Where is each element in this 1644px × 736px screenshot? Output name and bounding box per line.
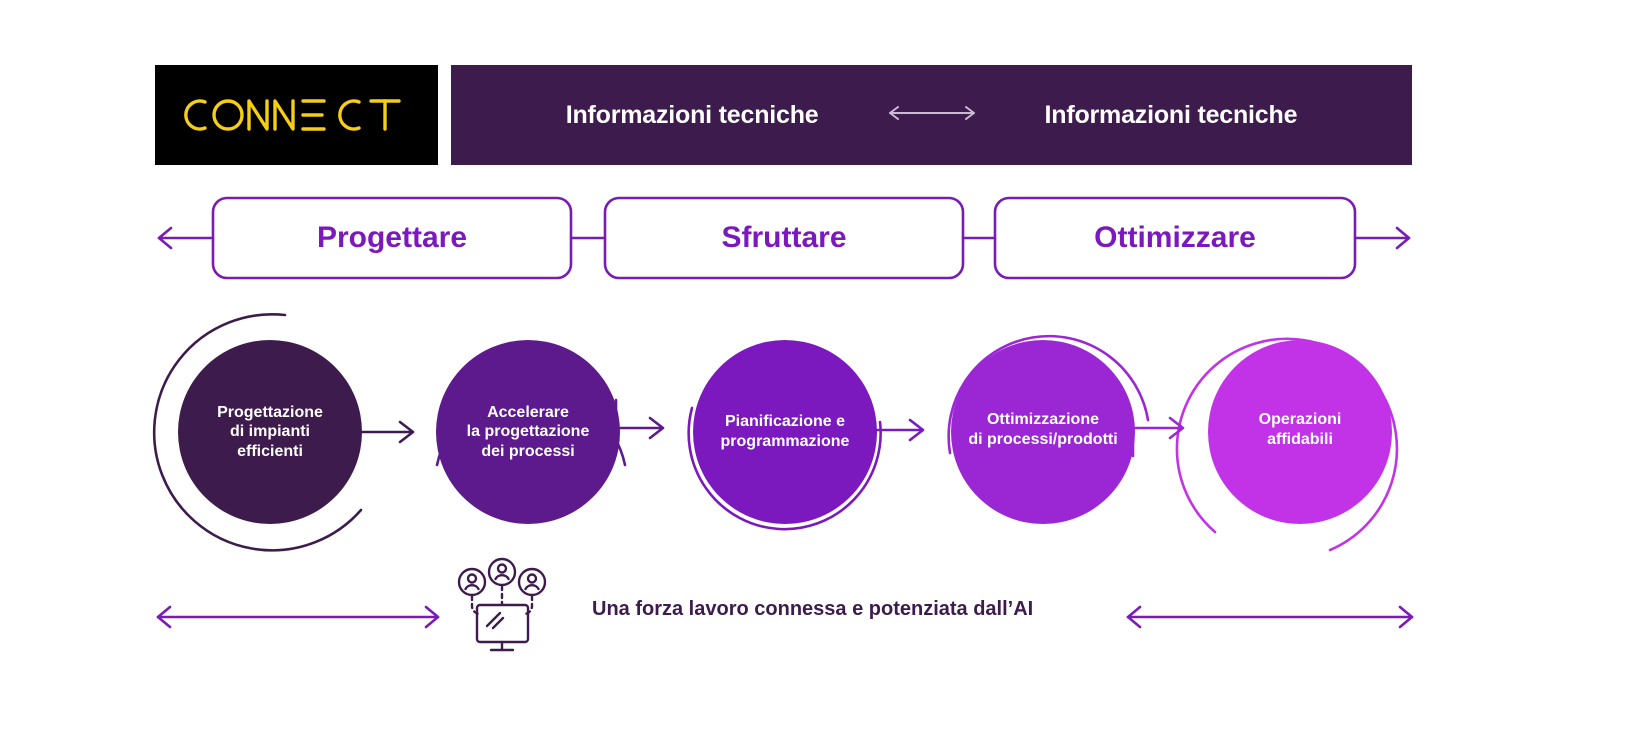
stage-circles-row: Progettazione di impianti efficienti Acc…: [0, 300, 1644, 555]
stage-circle-graphics: [0, 300, 1644, 555]
brand-logo: [155, 65, 438, 165]
phase-box-sfruttare[interactable]: Sfruttare: [605, 192, 963, 284]
header-right-label: Informazioni tecniche: [1045, 101, 1298, 130]
header-left-label: Informazioni tecniche: [566, 101, 819, 130]
header-info-bar: Informazioni tecniche Informazioni tecni…: [451, 65, 1412, 165]
footer-left-arrow-icon: [158, 607, 438, 627]
phase-label-1: Sfruttare: [721, 221, 846, 255]
connected-workforce-icon: [459, 559, 545, 650]
stage-circle-5: [1208, 340, 1392, 524]
phase-label-2: Ottimizzare: [1094, 221, 1256, 255]
stage-circle-4: [951, 340, 1135, 524]
footer-caption: Una forza lavoro connessa e potenziata d…: [592, 598, 1092, 621]
connect-wordmark-icon: [177, 90, 417, 140]
stage-circle-2: [436, 340, 620, 524]
footer-right-arrow-icon: [1128, 607, 1412, 627]
footer-row: Una forza lavoro connessa e potenziata d…: [0, 548, 1644, 668]
diagram-canvas: Informazioni tecniche Informazioni tecni…: [0, 0, 1644, 736]
stage-circle-3: [693, 340, 877, 524]
phase-row: Progettare Sfruttare Ottimizzare: [155, 192, 1413, 284]
phase-box-ottimizzare[interactable]: Ottimizzare: [995, 192, 1355, 284]
phase-label-0: Progettare: [317, 221, 467, 255]
phase-box-progettare[interactable]: Progettare: [213, 192, 571, 284]
header-band: Informazioni tecniche Informazioni tecni…: [155, 65, 1412, 165]
stage-circle-1: [178, 340, 362, 524]
double-arrow-horizontal-icon: [884, 104, 980, 127]
